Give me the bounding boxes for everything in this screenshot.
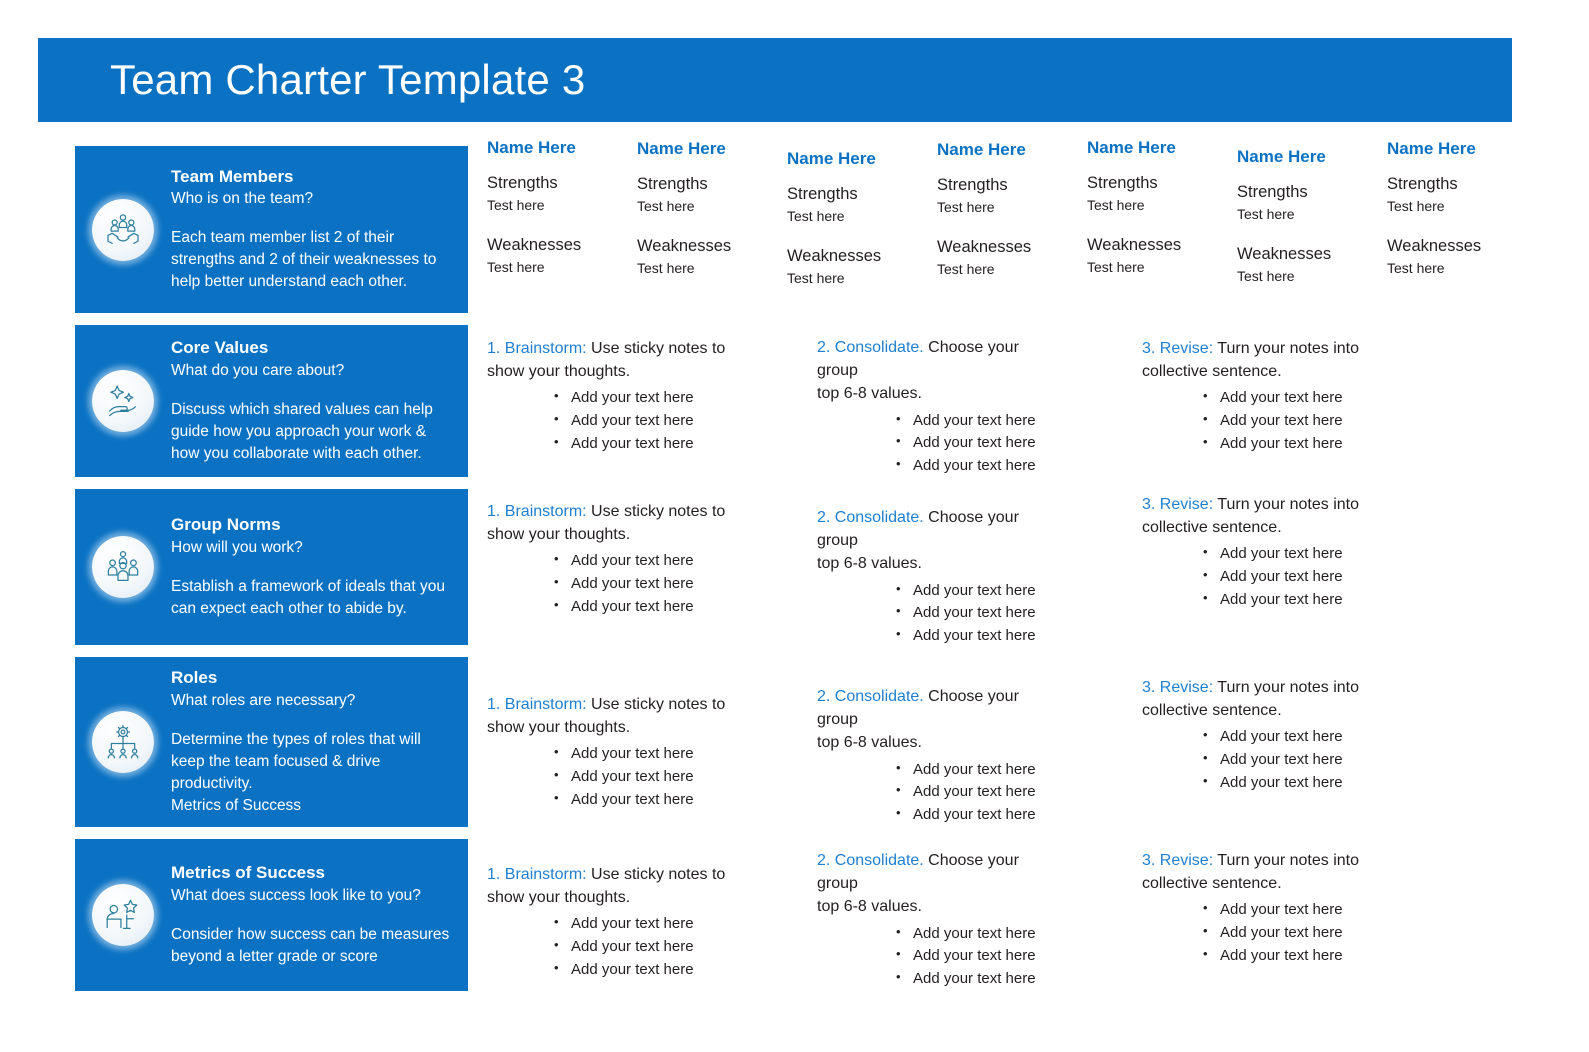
step-heading: 1. Brainstorm: Use sticky notes to [487,693,749,716]
strengths-value[interactable]: Test here [1237,206,1387,223]
list-item[interactable]: Add your text here [913,580,1067,603]
step-consolidate: 2. Consolidate. Choose your group top 6-… [817,506,1067,648]
spacer [937,216,1087,238]
step-heading: 1. Brainstorm: Use sticky notes to [487,337,749,360]
list-item[interactable]: Add your text here [913,804,1067,827]
slide-canvas: Team Charter Template 3 [0,0,1589,1052]
strengths-value[interactable]: Test here [637,198,787,215]
member-column[interactable]: Name Here Strengths Test here Weaknesses… [937,138,1087,287]
step-keyword: 1. Brainstorm: [487,503,587,520]
step-bullet-list: Add your text here Add your text here Ad… [1142,543,1392,611]
card-question: How will you work? [171,538,452,558]
weaknesses-value[interactable]: Test here [637,260,787,277]
card-icon-wrap [75,370,171,432]
spacer [637,215,787,237]
card-body: Team Members Who is on the team? Each te… [171,152,468,307]
strengths-label: Strengths [1087,174,1237,193]
list-item[interactable]: Add your text here [1220,387,1392,410]
list-item[interactable]: Add your text here [913,759,1067,782]
step-lead: Turn your notes into [1213,679,1359,696]
step-bullet-list: Add your text here Add your text here Ad… [1142,726,1392,794]
step-brainstorm: 1. Brainstorm: Use sticky notes to show … [487,337,749,456]
list-item[interactable]: Add your text here [913,781,1067,804]
list-item[interactable]: Add your text here [913,410,1067,433]
strengths-value[interactable]: Test here [937,199,1087,216]
spacer [1387,215,1537,237]
sparkles-hand-icon [92,370,154,432]
step-lead: Use sticky notes to [587,866,726,883]
strengths-label: Strengths [1387,175,1537,194]
list-item[interactable]: Add your text here [571,596,749,619]
step-brainstorm: 1. Brainstorm: Use sticky notes to show … [487,693,749,812]
team-handshake-icon [92,199,154,261]
weaknesses-value[interactable]: Test here [1087,259,1237,276]
sidebar-card-team-members[interactable]: Team Members Who is on the team? Each te… [75,146,468,313]
member-name[interactable]: Name Here [637,139,787,159]
gear-org-chart-icon [92,711,154,773]
member-column[interactable]: Name Here Strengths Test here Weaknesses… [1237,138,1387,287]
step-line2: show your thoughts. [487,523,749,546]
weaknesses-label: Weaknesses [487,236,637,255]
list-item[interactable]: Add your text here [1220,543,1392,566]
step-heading: 1. Brainstorm: Use sticky notes to [487,500,749,523]
list-item[interactable]: Add your text here [1220,410,1392,433]
step-keyword: 3. Revise: [1142,340,1213,357]
card-question: Who is on the team? [171,189,452,209]
spacer [1237,223,1387,245]
list-item[interactable]: Add your text here [913,602,1067,625]
step-revise: 3. Revise: Turn your notes into collecti… [1142,849,1392,968]
step-line3: top 6-8 values. [817,552,1067,575]
weaknesses-value[interactable]: Test here [1237,268,1387,285]
step-revise: 3. Revise: Turn your notes into collecti… [1142,676,1392,795]
card-question: What does success look like to you? [171,886,452,906]
weaknesses-label: Weaknesses [1387,237,1537,256]
card-title: Group Norms [171,514,452,535]
list-item[interactable]: Add your text here [1220,726,1392,749]
step-heading: 3. Revise: Turn your notes into [1142,337,1392,360]
step-keyword: 2. Consolidate. [817,852,924,869]
member-name[interactable]: Name Here [1237,147,1387,167]
list-item[interactable]: Add your text here [913,455,1067,478]
member-name[interactable]: Name Here [487,138,637,158]
step-line2: group [817,872,1067,895]
step-line3: top 6-8 values. [817,895,1067,918]
list-item[interactable]: Add your text here [1220,899,1392,922]
member-column[interactable]: Name Here Strengths Test here Weaknesses… [487,138,637,287]
step-lead: Use sticky notes to [587,696,726,713]
team-members-grid: Name Here Strengths Test here Weaknesses… [487,138,1577,287]
list-item[interactable]: Add your text here [571,959,749,982]
sidebar-card-metrics-of-success[interactable]: Metrics of Success What does success loo… [75,839,468,991]
member-column[interactable]: Name Here Strengths Test here Weaknesses… [787,138,937,287]
strengths-label: Strengths [487,174,637,193]
step-keyword: 3. Revise: [1142,852,1213,869]
weaknesses-label: Weaknesses [1087,236,1237,255]
step-bullet-list: Add your text here Add your text here Ad… [817,759,1067,827]
step-line2: collective sentence. [1142,360,1392,383]
strengths-label: Strengths [787,185,937,204]
step-heading: 2. Consolidate. Choose your [817,336,1067,359]
list-item[interactable]: Add your text here [571,387,749,410]
strengths-label: Strengths [637,175,787,194]
step-revise: 3. Revise: Turn your notes into collecti… [1142,493,1392,612]
desk-star-icon [92,884,154,946]
step-lead: Turn your notes into [1213,852,1359,869]
step-keyword: 3. Revise: [1142,679,1213,696]
strengths-label: Strengths [1237,183,1387,202]
list-item[interactable]: Add your text here [571,743,749,766]
step-consolidate: 2. Consolidate. Choose your group top 6-… [817,685,1067,827]
card-body: Roles What roles are necessary? Determin… [171,653,468,830]
card-body: Group Norms How will you work? Establish… [171,500,468,633]
step-heading: 3. Revise: Turn your notes into [1142,493,1392,516]
step-brainstorm: 1. Brainstorm: Use sticky notes to show … [487,500,749,619]
list-item[interactable]: Add your text here [1220,922,1392,945]
weaknesses-value[interactable]: Test here [787,270,937,287]
step-bullet-list: Add your text here Add your text here Ad… [487,743,749,811]
member-name[interactable]: Name Here [787,149,937,169]
list-item[interactable]: Add your text here [913,923,1067,946]
sidebar: Team Members Who is on the team? Each te… [75,146,468,1003]
strengths-value[interactable]: Test here [1087,197,1237,214]
list-item[interactable]: Add your text here [571,789,749,812]
list-item[interactable]: Add your text here [571,766,749,789]
page-title: Team Charter Template 3 [110,56,585,104]
list-item[interactable]: Add your text here [571,433,749,456]
card-icon-wrap [75,536,171,598]
step-line2: show your thoughts. [487,360,749,383]
weaknesses-value[interactable]: Test here [1387,260,1537,277]
people-group-icon [92,536,154,598]
list-item[interactable]: Add your text here [1220,433,1392,456]
list-item[interactable]: Add your text here [913,968,1067,991]
step-bullet-list: Add your text here Add your text here Ad… [1142,387,1392,455]
sidebar-card-group-norms[interactable]: Group Norms How will you work? Establish… [75,489,468,645]
list-item[interactable]: Add your text here [1220,945,1392,968]
step-lead: Use sticky notes to [587,340,726,357]
step-keyword: 2. Consolidate. [817,339,924,356]
list-item[interactable]: Add your text here [1220,749,1392,772]
card-icon-wrap [75,711,171,773]
card-title: Team Members [171,166,452,187]
step-heading: 3. Revise: Turn your notes into [1142,849,1392,872]
step-line2: show your thoughts. [487,716,749,739]
card-description: Discuss which shared values can help gui… [171,399,452,465]
step-lead: Turn your notes into [1213,496,1359,513]
step-lead: Choose your [924,339,1019,356]
member-name[interactable]: Name Here [937,140,1087,160]
step-line3: top 6-8 values. [817,382,1067,405]
strengths-value[interactable]: Test here [487,197,637,214]
weaknesses-value[interactable]: Test here [487,259,637,276]
card-description: Determine the types of roles that will k… [171,729,452,795]
step-heading: 2. Consolidate. Choose your [817,849,1067,872]
spacer [1087,214,1237,236]
step-lead: Turn your notes into [1213,340,1359,357]
strengths-label: Strengths [937,176,1087,195]
card-title: Core Values [171,337,452,358]
list-item[interactable]: Add your text here [571,550,749,573]
step-bullet-list: Add your text here Add your text here Ad… [1142,899,1392,967]
list-item[interactable]: Add your text here [1220,589,1392,612]
step-lead: Choose your [924,852,1019,869]
step-heading: 2. Consolidate. Choose your [817,685,1067,708]
step-heading: 1. Brainstorm: Use sticky notes to [487,863,749,886]
card-body: Core Values What do you care about? Disc… [171,323,468,478]
step-line2: group [817,529,1067,552]
step-lead: Choose your [924,509,1019,526]
member-column[interactable]: Name Here Strengths Test here Weaknesses… [1087,138,1237,287]
list-item[interactable]: Add your text here [571,410,749,433]
card-description: Consider how success can be measures bey… [171,924,452,968]
step-revise: 3. Revise: Turn your notes into collecti… [1142,337,1392,456]
step-line2: collective sentence. [1142,516,1392,539]
card-description: Establish a framework of ideals that you… [171,576,452,620]
card-title: Roles [171,667,452,688]
weaknesses-label: Weaknesses [787,247,937,266]
step-bullet-list: Add your text here Add your text here Ad… [817,923,1067,991]
list-item[interactable]: Add your text here [571,573,749,596]
weaknesses-label: Weaknesses [637,237,787,256]
list-item[interactable]: Add your text here [571,936,749,959]
card-question: What do you care about? [171,361,452,381]
spacer [787,225,937,247]
step-keyword: 1. Brainstorm: [487,340,587,357]
card-description: Each team member list 2 of their strengt… [171,227,452,293]
list-item[interactable]: Add your text here [913,945,1067,968]
strengths-value[interactable]: Test here [1387,198,1537,215]
step-keyword: 3. Revise: [1142,496,1213,513]
member-column[interactable]: Name Here Strengths Test here Weaknesses… [1387,138,1537,287]
step-lead: Use sticky notes to [587,503,726,520]
list-item[interactable]: Add your text here [913,432,1067,455]
weaknesses-label: Weaknesses [937,238,1087,257]
step-bullet-list: Add your text here Add your text here Ad… [817,580,1067,648]
step-line2: collective sentence. [1142,872,1392,895]
list-item[interactable]: Add your text here [1220,772,1392,795]
sidebar-card-core-values[interactable]: Core Values What do you care about? Disc… [75,325,468,477]
weaknesses-label: Weaknesses [1237,245,1387,264]
step-keyword: 2. Consolidate. [817,509,924,526]
step-bullet-list: Add your text here Add your text here Ad… [487,913,749,981]
card-body: Metrics of Success What does success loo… [171,848,468,981]
step-brainstorm: 1. Brainstorm: Use sticky notes to show … [487,863,749,982]
sidebar-card-roles[interactable]: Roles What roles are necessary? Determin… [75,657,468,827]
step-keyword: 2. Consolidate. [817,688,924,705]
list-item[interactable]: Add your text here [1220,566,1392,589]
strengths-value[interactable]: Test here [787,208,937,225]
step-bullet-list: Add your text here Add your text here Ad… [487,550,749,618]
step-lead: Choose your [924,688,1019,705]
step-line2: group [817,708,1067,731]
card-extra-line: Metrics of Success [171,795,452,817]
list-item[interactable]: Add your text here [571,913,749,936]
card-icon-wrap [75,199,171,261]
member-name[interactable]: Name Here [1387,139,1537,159]
weaknesses-value[interactable]: Test here [937,261,1087,278]
step-consolidate: 2. Consolidate. Choose your group top 6-… [817,849,1067,991]
step-heading: 3. Revise: Turn your notes into [1142,676,1392,699]
card-title: Metrics of Success [171,862,452,883]
member-name[interactable]: Name Here [1087,138,1237,158]
step-line2: group [817,359,1067,382]
header-banner: Team Charter Template 3 [38,38,1512,122]
step-line3: top 6-8 values. [817,731,1067,754]
step-line2: collective sentence. [1142,699,1392,722]
member-column[interactable]: Name Here Strengths Test here Weaknesses… [637,138,787,287]
step-bullet-list: Add your text here Add your text here Ad… [487,387,749,455]
card-icon-wrap [75,884,171,946]
step-heading: 2. Consolidate. Choose your [817,506,1067,529]
step-keyword: 1. Brainstorm: [487,696,587,713]
step-consolidate: 2. Consolidate. Choose your group top 6-… [817,336,1067,478]
step-line2: show your thoughts. [487,886,749,909]
card-question: What roles are necessary? [171,691,452,711]
spacer [487,214,637,236]
step-keyword: 1. Brainstorm: [487,866,587,883]
step-bullet-list: Add your text here Add your text here Ad… [817,410,1067,478]
list-item[interactable]: Add your text here [913,625,1067,648]
